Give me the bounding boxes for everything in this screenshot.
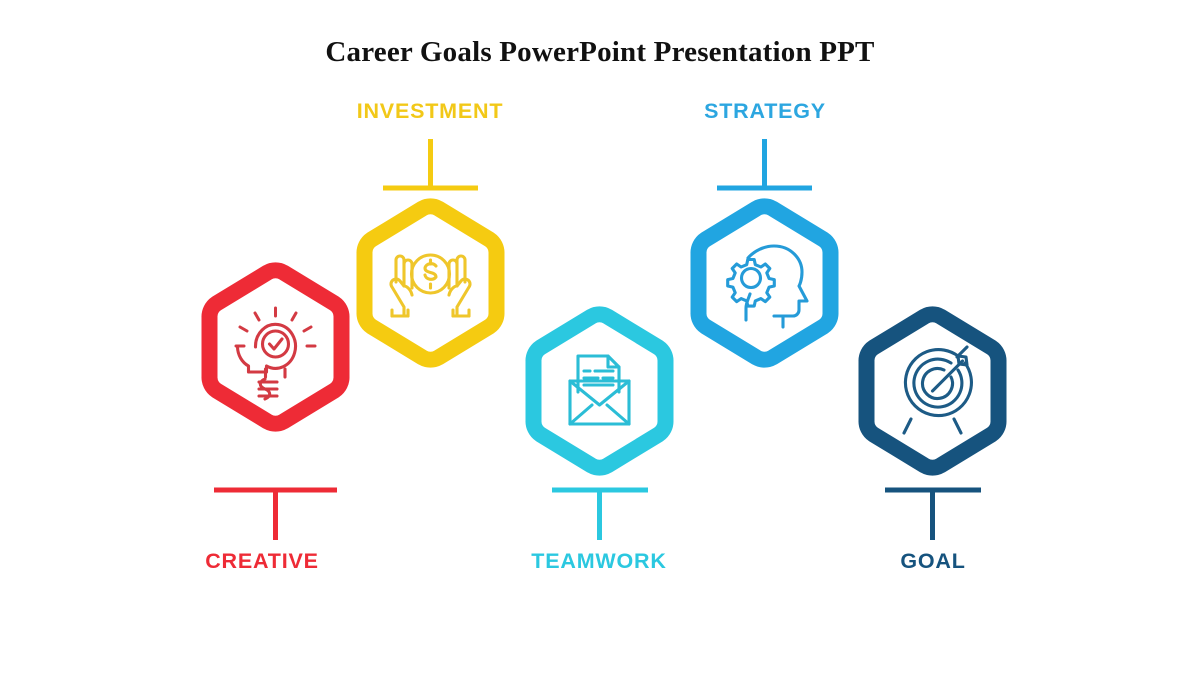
node-creative[interactable]	[209, 270, 341, 540]
node-strategy[interactable]	[698, 139, 830, 360]
connector-creative	[214, 490, 337, 540]
label-investment: INVESTMENT	[308, 99, 552, 124]
label-creative: CREATIVE	[140, 549, 384, 574]
head-gear-icon	[728, 246, 807, 327]
slide-canvas: Career Goals PowerPoint Presentation PPT	[0, 0, 1200, 675]
envelope-document-icon	[570, 356, 629, 424]
hexagon-strategy[interactable]	[698, 206, 830, 359]
connector-investment	[383, 139, 478, 188]
hexagon-teamwork[interactable]	[533, 314, 665, 467]
node-investment[interactable]	[364, 139, 496, 360]
label-strategy: STRATEGY	[643, 99, 887, 124]
label-goal: GOAL	[811, 549, 1055, 574]
connector-teamwork	[552, 490, 648, 540]
node-teamwork[interactable]	[533, 314, 665, 540]
lightbulb-check-icon	[236, 308, 315, 399]
label-teamwork: TEAMWORK	[477, 549, 721, 574]
hands-holding-money-icon	[391, 255, 470, 316]
node-goal[interactable]	[866, 314, 998, 540]
connector-goal	[885, 490, 981, 540]
connector-strategy	[717, 139, 812, 188]
target-arrow-icon	[904, 347, 971, 433]
